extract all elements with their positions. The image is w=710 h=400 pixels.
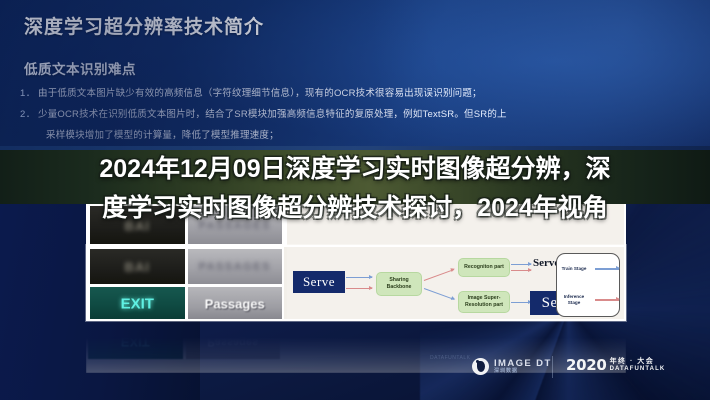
diagram-node-label: Sharing Backbone	[379, 277, 419, 291]
slide-bullet-list: 1． 由于低质文本图片缺少有效的高频信息（字符纹理细节信息），现有的OCR技术很…	[18, 84, 696, 145]
slide-title: 深度学习超分辨率技术简介	[24, 12, 264, 39]
conference-name-en: DATAFUNTALK	[610, 366, 666, 373]
conference-year: 2020	[566, 356, 607, 374]
sample-text: PASSAGES	[199, 220, 271, 232]
diagram-node-super-resolution-part: Image Super-Resolution part	[458, 291, 510, 313]
legend-label-inference: Inference Stage	[561, 294, 587, 306]
bullet-number: 2．	[18, 105, 38, 124]
sample-text: BAI	[125, 259, 150, 274]
diagram-node-label: Image Super-Resolution part	[461, 295, 507, 309]
reflection-text: Passages	[207, 336, 258, 348]
top-presentation-slide: 深度学习超分辨率技术简介 低质文本识别难点 1． 由于低质文本图片缺少有效的高频…	[0, 0, 710, 146]
sample-text: PASSAGES	[199, 261, 271, 273]
reflection-text: EXIT	[121, 335, 150, 350]
bullet-item-1: 1． 由于低质文本图片缺少有效的高频信息（字符纹理细节信息），现有的OCR技术很…	[18, 84, 696, 103]
datafuntalk-watermark: 2020 年终 · 大会 DATAFUNTALK	[566, 356, 665, 374]
arrow-input-to-backbone-train	[346, 277, 372, 278]
olive-divider-band	[0, 146, 710, 204]
legend-label-train: Train Stage	[561, 266, 587, 272]
arrow-backbone-to-superres	[424, 288, 455, 300]
imagedt-logo-icon	[472, 358, 489, 375]
diagram-node-label: Recogniton part	[464, 264, 504, 271]
screenshot-root: 深度学习超分辨率技术简介 低质文本识别难点 1． 由于低质文本图片缺少有效的高频…	[0, 0, 710, 400]
slide-subtitle: 低质文本识别难点	[24, 58, 136, 78]
diagram-legend: Train Stage Inference Stage	[556, 253, 620, 317]
inner-slide-upper-strip: BAI PASSAGES	[86, 204, 626, 246]
sample-cell-blurred-grey: PASSAGES	[188, 249, 283, 284]
arrow-superres-to-output	[511, 302, 531, 303]
imagedt-watermark: IMAGE DT 深圳数据	[472, 358, 552, 375]
sample-image-grid: BAI PASSAGES EXIT Passages	[88, 247, 284, 321]
legend-arrow-train-icon	[595, 268, 619, 270]
sample-text: BAI	[125, 218, 150, 233]
sample-text: Passages	[205, 297, 265, 312]
conference-name-cn: 年终 · 大会	[610, 358, 666, 366]
diagram-input-serve-box: Serve	[293, 271, 345, 293]
sample-cell-passages-sign: Passages	[188, 287, 283, 322]
bullet-text-continuation: 采样模块增加了模型的计算量，降低了模型推理速度；	[46, 126, 696, 145]
legend-arrow-inference-icon	[595, 299, 619, 301]
bullet-text: 少量OCR技术在识别低质文本图片时，结合了SR模块加强高频信息特征的复原处理，例…	[38, 105, 507, 124]
diagram-node-recognition-part: Recogniton part	[458, 258, 510, 277]
diagram-node-sharing-backbone: Sharing Backbone	[376, 272, 422, 296]
legend-row-inference: Inference Stage	[561, 294, 619, 306]
sample-blurred-grey-top: PASSAGES	[188, 206, 283, 244]
bullet-item-2: 2． 少量OCR技术在识别低质文本图片时，结合了SR模块加强高频信息特征的复原处…	[18, 105, 696, 124]
bullet-number: 1．	[18, 84, 38, 103]
architecture-diagram: Serve Sharing Backbone Recogniton part I…	[287, 247, 626, 321]
arrow-recognition-to-output	[511, 264, 531, 265]
arrow-input-to-backbone-inference	[346, 288, 372, 289]
reflection-exit: EXIT	[88, 325, 183, 359]
ghost-watermark: DATAFUNTALK	[430, 355, 471, 361]
sample-blurred-dark-top: BAI	[90, 206, 185, 244]
sample-cell-blurred-dark: BAI	[90, 249, 185, 284]
legend-row-train: Train Stage	[561, 266, 619, 272]
diagram-input-label: Serve	[303, 274, 335, 290]
reflection-samples: EXIT Passages	[86, 323, 282, 361]
arrow-backbone-to-recognition	[424, 269, 455, 281]
arrow-recognition-to-output-2	[511, 270, 531, 271]
watermark-divider	[552, 356, 553, 378]
sample-text: EXIT	[121, 296, 154, 313]
sample-cell-exit-sign: EXIT	[90, 287, 185, 322]
bullet-text: 由于低质文本图片缺少有效的高频信息（字符纹理细节信息），现有的OCR技术很容易出…	[38, 84, 482, 103]
reflection-passages: Passages	[186, 325, 281, 359]
inner-diagram-slide: BAI PASSAGES EXIT Passages Serve Sha	[86, 245, 626, 321]
imagedt-name-cn: 深圳数据	[494, 369, 552, 374]
